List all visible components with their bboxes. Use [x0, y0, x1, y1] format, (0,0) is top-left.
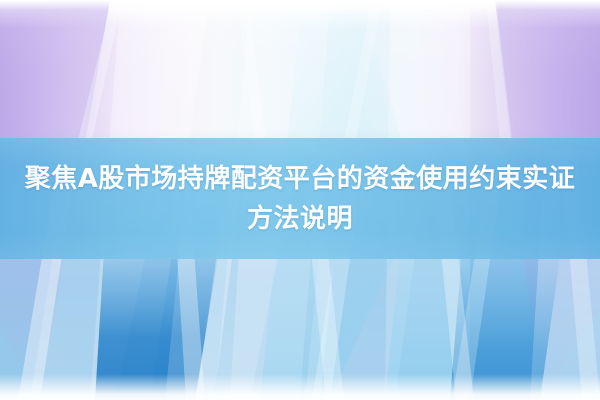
banner: 聚焦A股市场持牌配资平台的资金使用约束实证方法说明	[0, 0, 600, 400]
page-title: 聚焦A股市场持牌配资平台的资金使用约束实证方法说明	[20, 159, 580, 239]
title-band: 聚焦A股市场持牌配资平台的资金使用约束实证方法说明	[0, 138, 600, 259]
